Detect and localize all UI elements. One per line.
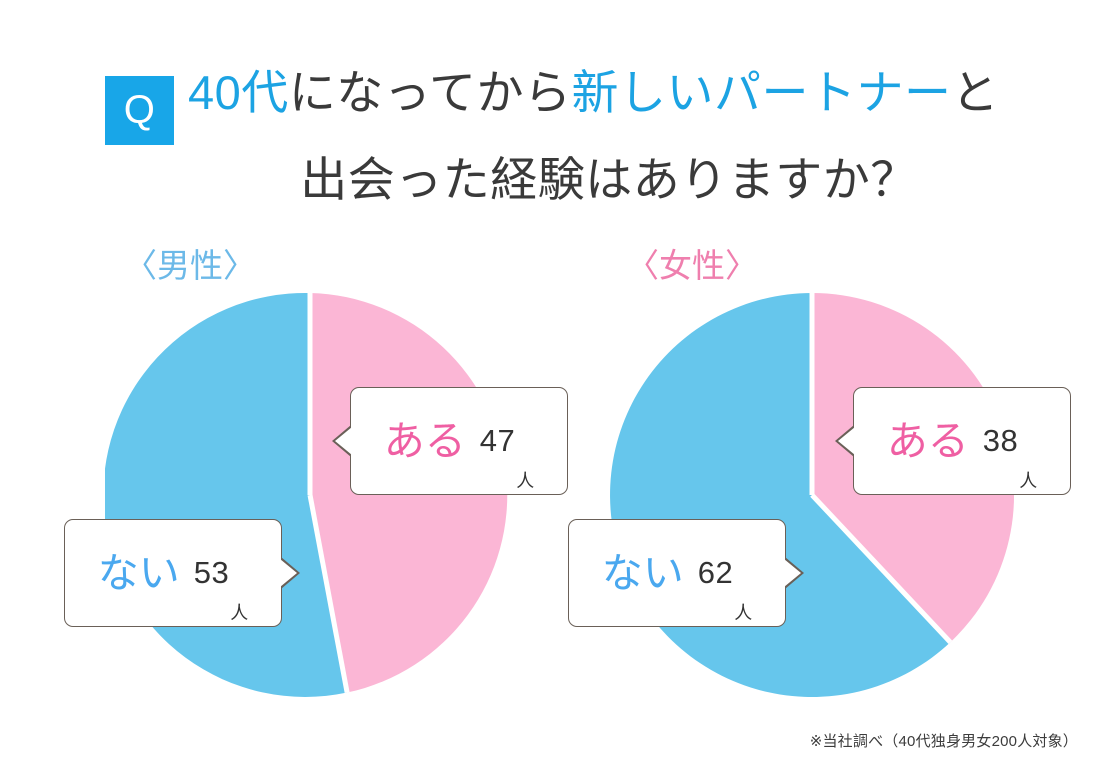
- callout-value-nai-male: 53: [194, 556, 229, 590]
- gender-label-female: 〈女性〉: [562, 246, 1062, 286]
- infographic-root: Q40代になってから新しいパートナーと 出会った経験はありますか？ 〈男性〉 あ…: [0, 0, 1100, 770]
- callout-unit-nai-female: 人: [734, 603, 752, 626]
- pie-chart-female: [607, 290, 1017, 700]
- source-footnote: ※当社調べ（40代独身男女200人対象）: [810, 732, 1078, 752]
- callout-label-nai-male: ない: [98, 551, 180, 595]
- callout-value-nai-female: 62: [698, 556, 733, 590]
- callout-value-aru-female: 38: [983, 424, 1018, 458]
- pie-svg-female: [607, 290, 1017, 700]
- callout-aru-male: ある 47 人: [350, 387, 568, 495]
- callout-label-aru-female: ある: [887, 419, 969, 463]
- chart-male: 〈男性〉 ある 47 人 ない 53 人: [60, 0, 560, 770]
- gender-label-male: 〈男性〉: [60, 246, 560, 286]
- callout-label-nai-female: ない: [602, 551, 684, 595]
- callout-value-aru-male: 47: [480, 424, 515, 458]
- pie-svg-male: [105, 290, 515, 700]
- chart-female: 〈女性〉 ある 38 人 ない 62 人: [562, 0, 1062, 770]
- callout-label-aru-male: ある: [384, 419, 466, 463]
- callout-aru-female: ある 38 人: [853, 387, 1071, 495]
- pie-slices-female: [610, 293, 1014, 697]
- callout-nai-female: ない 62 人: [568, 519, 786, 627]
- callout-nai-male: ない 53 人: [64, 519, 282, 627]
- pie-chart-male: [105, 290, 515, 700]
- callout-unit-aru-female: 人: [1019, 471, 1037, 494]
- callout-unit-nai-male: 人: [230, 603, 248, 626]
- callout-unit-aru-male: 人: [516, 471, 534, 494]
